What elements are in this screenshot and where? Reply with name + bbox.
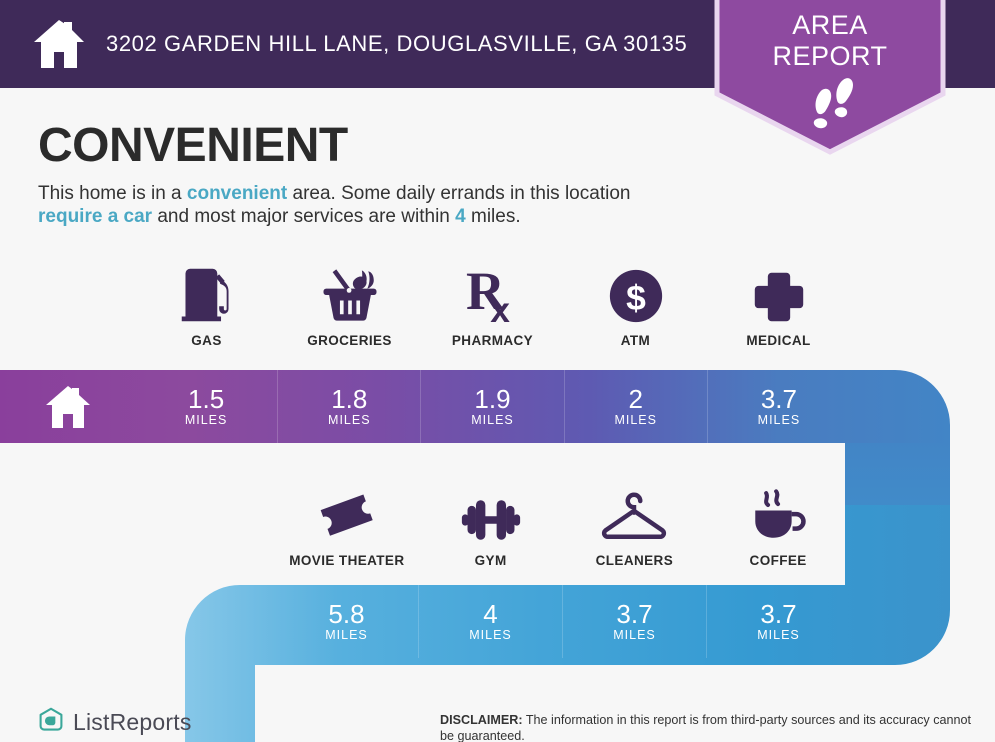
distance-cell-atm: 2 MILES [565,370,708,443]
home-marker [0,370,135,443]
amenity-groceries: GROCERIES [278,258,421,348]
amenity-pharmacy: R x PHARMACY [421,258,564,348]
listreports-house-icon [38,707,64,738]
medical-cross-icon [752,258,806,324]
home-icon [44,384,92,430]
amenity-medical: MEDICAL [707,258,850,348]
distance-cell-coffee: 3.7 MILES [707,585,850,658]
distance-value: 1.8 [331,386,367,412]
desc-part-4: miles. [466,206,521,227]
desc-highlight-convenient: convenient [187,183,287,204]
distance-unit: MILES [471,413,514,427]
distance-cell-gym: 4 MILES [419,585,563,658]
property-address: 3202 GARDEN HILL LANE, DOUGLASVILLE, GA … [106,31,687,57]
amenity-icons-row-1: GAS GROCERIES R x [135,258,850,348]
distance-bar-row-1: 1.5 MILES 1.8 MILES 1.9 MILES 2 MILES 3.… [135,370,850,443]
distance-cell-pharmacy: 1.9 MILES [421,370,564,443]
desc-highlight-require-car: require a car [38,206,152,227]
distance-value: 3.7 [616,601,652,627]
distance-cell-cleaners: 3.7 MILES [563,585,707,658]
svg-text:$: $ [626,278,646,318]
amenity-gym: GYM [419,478,563,568]
distance-value: 5.8 [328,601,364,627]
amenity-label: ATM [621,333,650,348]
gas-pump-icon [178,258,236,324]
movie-ticket-icon [317,478,377,544]
area-report-badge: AREA REPORT [711,0,949,158]
distance-unit: MILES [757,628,800,642]
distance-unit: MILES [325,628,368,642]
amenity-label: CLEANERS [596,553,673,568]
amenity-coffee: COFFEE [706,478,850,568]
distance-unit: MILES [614,413,657,427]
dumbbell-icon [460,478,522,544]
coffee-cup-icon [748,478,808,544]
desc-part-2: area. Some daily errands in this locatio… [287,183,630,204]
grocery-basket-icon [318,258,382,324]
svg-text:x: x [490,291,510,324]
distance-cell-movie-theater: 5.8 MILES [275,585,419,658]
amenity-atm: $ ATM [564,258,707,348]
amenity-label: MOVIE THEATER [289,553,404,568]
distance-bar-row-2: 5.8 MILES 4 MILES 3.7 MILES 3.7 MILES [275,585,850,658]
amenity-cleaners: CLEANERS [563,478,707,568]
page-title: CONVENIENT [38,118,348,173]
disclaimer-label: DISCLAIMER: [440,713,523,727]
distance-value: 4 [483,601,497,627]
distance-cell-groceries: 1.8 MILES [278,370,421,443]
amenity-movie-theater: MOVIE THEATER [275,478,419,568]
distance-value: 1.9 [474,386,510,412]
description-text: This home is in a convenient area. Some … [38,182,698,228]
disclaimer: DISCLAIMER: The information in this repo… [440,712,985,742]
amenity-gas: GAS [135,258,278,348]
listreports-logo-text: ListReports [73,709,192,736]
amenity-label: MEDICAL [746,333,810,348]
distance-value: 3.7 [760,601,796,627]
home-icon [32,18,86,70]
distance-unit: MILES [613,628,656,642]
hanger-icon [600,478,668,544]
distance-value: 2 [628,386,642,412]
distance-unit: MILES [185,413,228,427]
area-report-page: 3202 GARDEN HILL LANE, DOUGLASVILLE, GA … [0,0,995,742]
distance-value: 1.5 [188,386,224,412]
amenity-label: GAS [191,333,221,348]
amenity-label: GYM [475,553,507,568]
desc-highlight-miles: 4 [455,206,466,227]
amenity-icons-row-2: MOVIE THEATER GYM [275,478,850,568]
desc-part-1: This home is in a [38,183,187,204]
amenity-label: PHARMACY [452,333,533,348]
distance-cell-medical: 3.7 MILES [708,370,850,443]
distance-unit: MILES [469,628,512,642]
listreports-logo: ListReports [38,707,192,738]
distance-unit: MILES [328,413,371,427]
desc-part-3: and most major services are within [152,206,455,227]
amenity-label: COFFEE [750,553,807,568]
amenity-label: GROCERIES [307,333,392,348]
rx-icon: R x [466,258,520,324]
distance-cell-gas: 1.5 MILES [135,370,278,443]
distance-unit: MILES [758,413,801,427]
dollar-circle-icon: $ [608,258,664,324]
distance-value: 3.7 [761,386,797,412]
